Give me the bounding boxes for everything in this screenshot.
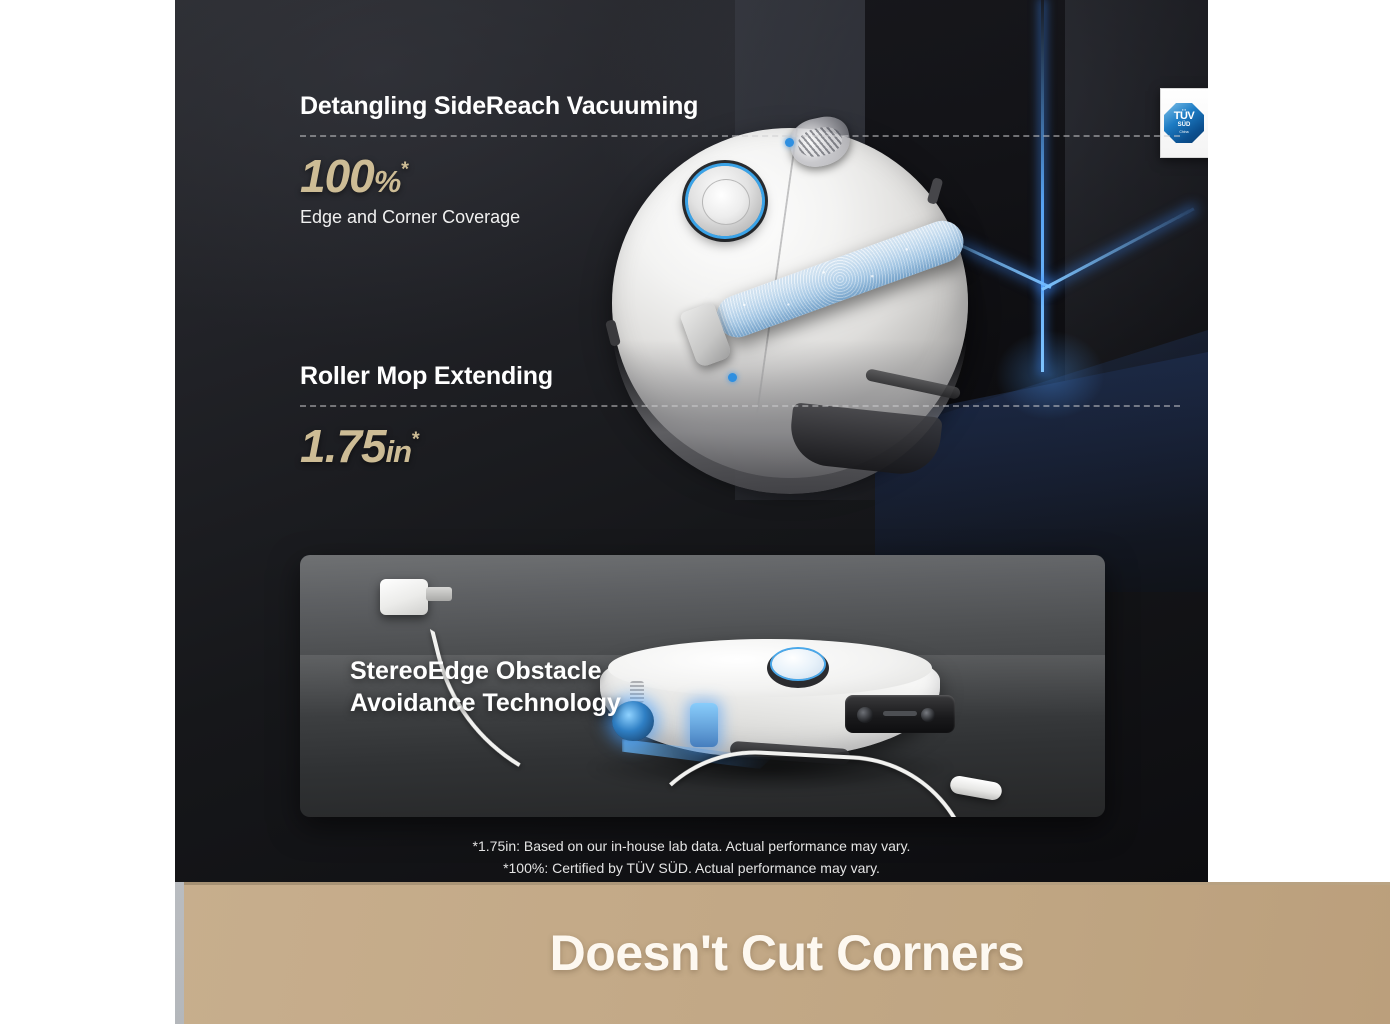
feature-subtitle: Edge and Corner Coverage: [300, 207, 1180, 228]
inset-robot-top-surface: [608, 639, 932, 697]
banner-headline: Doesn't Cut Corners: [184, 882, 1390, 1024]
stat-footnote-marker: *: [400, 159, 407, 181]
power-adapter-tip: [426, 587, 452, 601]
inset-title: StereoEdge Obstacle Avoidance Technology: [350, 655, 621, 719]
charging-cable-connector: [949, 775, 1003, 802]
stat-unit: in: [386, 434, 412, 469]
stat-footnote-marker: *: [411, 429, 418, 451]
footnotes: *1.75in: Based on our in-house lab data.…: [175, 836, 1208, 879]
footnote-line-2: *100%: Certified by TÜV SÜD. Actual perf…: [175, 858, 1208, 880]
feature-divider: [300, 135, 1180, 137]
footnote-line-1: *1.75in: Based on our in-house lab data.…: [175, 836, 1208, 858]
feature-stat: 1.75in*: [300, 423, 1180, 469]
feature-title: Detangling SideReach Vacuuming: [300, 92, 1180, 121]
inset-title-line2: Avoidance Technology: [350, 687, 621, 719]
inset-blue-sensor-pad: [690, 703, 718, 747]
stat-unit: %: [374, 164, 401, 199]
bottom-banner-left-edge: [175, 882, 184, 1024]
tuv-info: Maternal and Infant Cleaning Robot ✓ Bac…: [1207, 89, 1208, 157]
stat-value: 100: [300, 150, 374, 202]
inset-panel-stereoedge: StereoEdge Obstacle Avoidance Technology: [300, 555, 1105, 817]
stat-value: 1.75: [300, 420, 386, 472]
feature-stat: 100%*: [300, 153, 1180, 199]
power-adapter: [380, 579, 428, 615]
feature-title: Roller Mop Extending: [300, 362, 1180, 391]
inset-robot-vent: [630, 681, 644, 703]
feature-divider: [300, 405, 1180, 407]
inset-lidar-turret-icon: [772, 649, 824, 679]
hero-panel: TÜV SÜD China Maternal and Infant Cleani…: [175, 0, 1208, 882]
inset-title-line1: StereoEdge Obstacle: [350, 655, 621, 687]
feature-block-roller-mop: Roller Mop Extending 1.75in*: [300, 362, 1180, 469]
product-marketing-image: TÜV SÜD China Maternal and Infant Cleani…: [0, 0, 1390, 1024]
feature-block-sidereach: Detangling SideReach Vacuuming 100%* Edg…: [300, 92, 1180, 228]
tuv-mark-line3: China: [1179, 130, 1188, 135]
inset-sensor-slit: [883, 711, 917, 716]
